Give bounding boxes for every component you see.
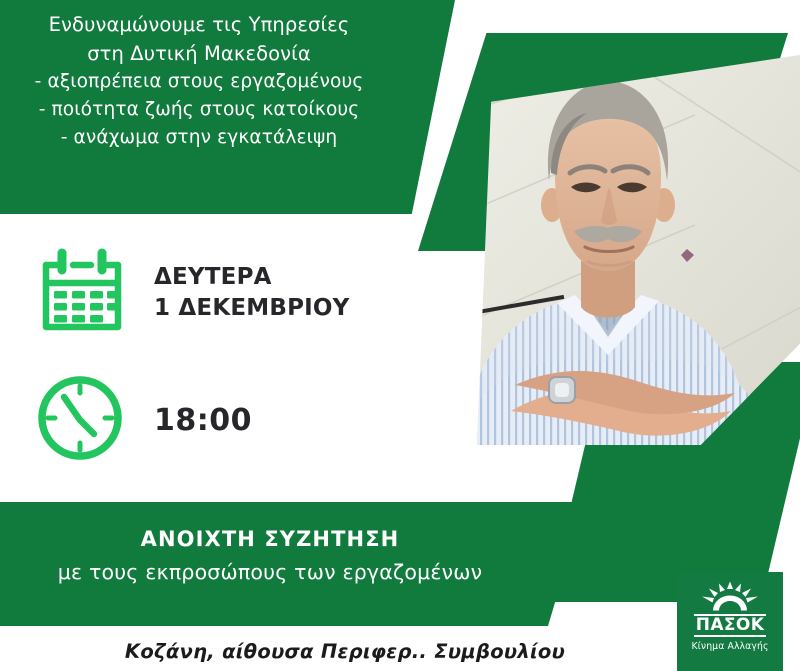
candidate-portrait-image [445,55,800,445]
candidate-photo [445,55,800,445]
pasok-logo-subtitle: Κίνημα Αλλαγής [691,641,768,652]
headline-line-5: - ανάχωμα στην εγκατάλειψη [0,124,398,152]
pasok-logo-name: ΠΑΣΟΚ [694,614,767,637]
event-date-label: 1 ΔΕΚΕΜΒΡΙΟΥ [154,293,350,324]
sun-rays-icon [699,581,761,613]
headline-line-4: - ποιότητα ζωής στους κατοίκους [0,96,398,124]
venue-text: Κοζάνη, αίθουσα Περιφερ.. Συμβουλίου [0,640,690,663]
headline-line-3: - αξιοπρέπεια στους εργαζομένους [0,68,398,96]
discussion-title: ΑΝΟΙΧΤΗ ΣΥΖΗΤΗΣΗ [0,527,540,551]
pasok-logo: ΠΑΣΟΚ Κίνημα Αλλαγής [677,572,783,671]
clock-icon [34,372,126,468]
event-day-label: ΔΕΥΤΕΡΑ [154,262,350,293]
calendar-icon [34,243,130,343]
event-time-row: 18:00 [34,372,252,468]
headline-line-2: στη Δυτική Μακεδονία [0,39,398,68]
event-date-row: ΔΕΥΤΕΡΑ 1 ΔΕΚΕΜΒΡΙΟΥ [34,243,350,343]
headline-line-1: Ενδυναμώνουμε τις Υπηρεσίες [0,10,398,39]
event-date-text: ΔΕΥΤΕΡΑ 1 ΔΕΚΕΜΒΡΙΟΥ [154,262,350,324]
discussion-banner: ΑΝΟΙΧΤΗ ΣΥΖΗΤΗΣΗ με τους εκπροσώπους των… [0,527,540,584]
campaign-poster: Ενδυναμώνουμε τις Υπηρεσίες στη Δυτική Μ… [0,0,800,671]
headline-text: Ενδυναμώνουμε τις Υπηρεσίες στη Δυτική Μ… [0,10,398,151]
event-time-label: 18:00 [154,403,252,438]
discussion-subtitle: με τους εκπροσώπους των εργαζομένων [0,560,540,584]
